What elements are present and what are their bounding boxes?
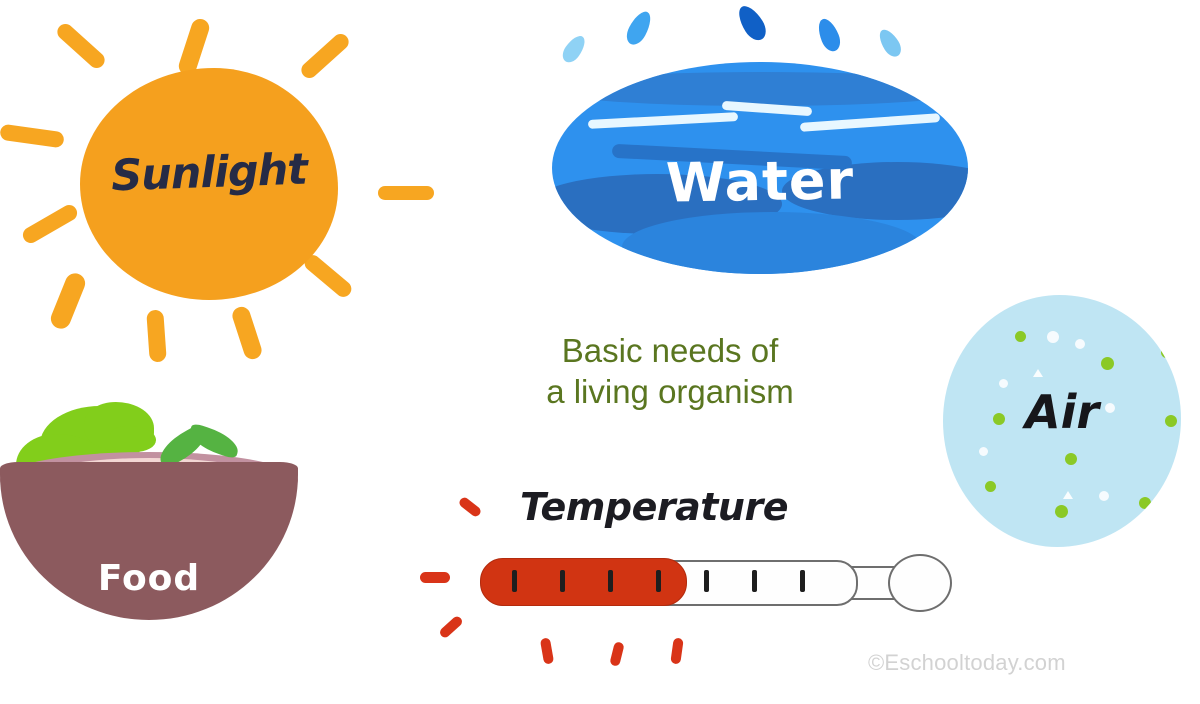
infographic-canvas: Sunlight Water xyxy=(0,0,1200,704)
water-foam-line xyxy=(588,112,738,129)
sun-ray xyxy=(301,252,354,300)
thermometer-tick xyxy=(800,570,805,592)
heat-mark xyxy=(420,572,450,583)
water-droplet-icon xyxy=(733,2,770,45)
air-particle xyxy=(985,481,996,492)
heat-mark xyxy=(540,637,554,664)
water-droplet-icon xyxy=(623,8,656,48)
thermometer-tick xyxy=(512,570,517,592)
water-label: Water xyxy=(551,146,968,216)
thermometer-tick xyxy=(752,570,757,592)
heat-mark xyxy=(609,641,625,667)
page-title: Basic needs of a living organism xyxy=(470,330,870,413)
air-sparkle xyxy=(1075,339,1085,349)
sun-ray xyxy=(48,270,88,331)
heat-mark xyxy=(457,496,482,519)
air-particle xyxy=(1065,453,1077,465)
food-label: Food xyxy=(0,558,298,599)
sun-ray xyxy=(298,31,352,82)
water-foam-line xyxy=(800,113,940,132)
sun-ray xyxy=(0,124,65,149)
thermometer-tick xyxy=(608,570,613,592)
air-sparkle xyxy=(979,447,988,456)
sun-ray xyxy=(378,186,434,200)
thermometer-tick xyxy=(560,570,565,592)
air-particle xyxy=(1161,347,1172,358)
thermometer-bulb xyxy=(888,554,952,612)
thermometer-tick xyxy=(656,570,661,592)
heat-mark xyxy=(670,637,684,664)
title-line-1: Basic needs of xyxy=(470,330,870,371)
watermark: ©Eschooltoday.com xyxy=(868,650,1066,676)
food-item: Food xyxy=(0,400,322,650)
air-particle xyxy=(1101,357,1114,370)
water-item: Water xyxy=(520,0,990,300)
sunlight-label: Sunlight xyxy=(79,144,339,203)
air-particle xyxy=(1139,497,1151,509)
sunlight-item: Sunlight xyxy=(0,0,440,390)
sun-ray xyxy=(146,309,167,362)
air-particle xyxy=(1055,505,1068,518)
air-label: Air xyxy=(943,385,1181,439)
air-sparkle xyxy=(1063,491,1073,499)
heat-mark xyxy=(438,615,464,640)
air-sparkle xyxy=(1033,369,1043,377)
lettuce-leaf xyxy=(110,426,156,452)
title-line-2: a living organism xyxy=(470,371,870,412)
air-sparkle xyxy=(1047,331,1059,343)
sun-ray xyxy=(20,202,80,246)
sun-ray xyxy=(54,21,108,72)
water-droplet-icon xyxy=(559,32,589,66)
temperature-label: Temperature xyxy=(520,485,940,529)
water-droplet-icon xyxy=(875,26,904,60)
sun-ray xyxy=(230,305,264,362)
water-wave-band xyxy=(552,72,968,106)
water-droplet-icon xyxy=(814,16,843,54)
thermometer-tick xyxy=(704,570,709,592)
water-wave-band xyxy=(622,212,922,274)
air-sparkle xyxy=(1099,491,1109,501)
air-particle xyxy=(1015,331,1026,342)
